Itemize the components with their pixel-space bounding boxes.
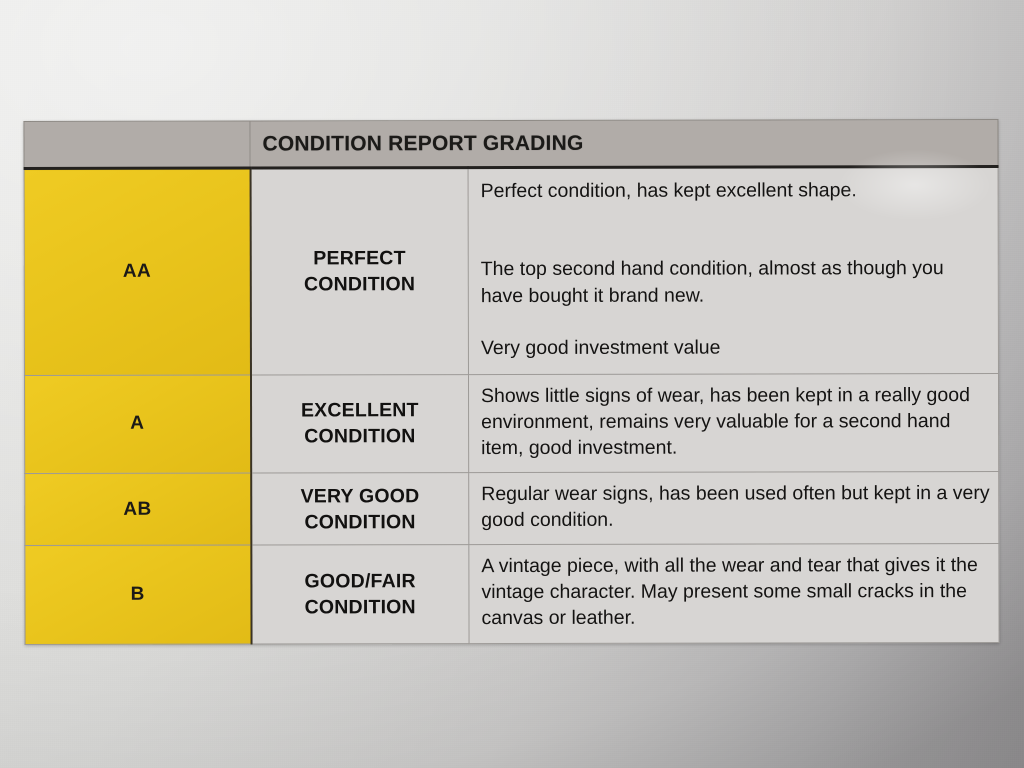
grade-cell-aa: AA — [24, 168, 250, 375]
condition-cell-ab: VERY GOOD CONDITION — [251, 473, 469, 546]
table-body: AA PERFECT CONDITION Perfect condition, … — [24, 166, 999, 644]
condition-report-grading-table: CONDITION REPORT GRADING AA PERFECT COND… — [23, 119, 999, 645]
condition-label: PERFECT CONDITION — [251, 245, 468, 298]
description-cell-ab: Regular wear signs, has been used often … — [469, 472, 999, 545]
header-spacer-cell — [24, 121, 250, 168]
condition-cell-b: GOOD/FAIR CONDITION — [251, 545, 469, 644]
header-title-cell: CONDITION REPORT GRADING — [250, 119, 998, 168]
grade-cell-b: B — [25, 545, 251, 644]
description-text: Shows little signs of wear, has been kep… — [481, 383, 990, 462]
description-cell-aa: Perfect condition, has kept excellent sh… — [468, 166, 998, 374]
description-text: Perfect condition, has kept excellent sh… — [481, 177, 990, 361]
description-text: A vintage piece, with all the wear and t… — [481, 553, 990, 632]
condition-label: GOOD/FAIR CONDITION — [252, 568, 469, 621]
grade-cell-a: A — [24, 375, 250, 474]
grade-label: AB — [25, 498, 250, 520]
condition-cell-a: EXCELLENT CONDITION — [250, 374, 468, 473]
table-row: AB VERY GOOD CONDITION Regular wear sign… — [25, 472, 999, 546]
condition-label: EXCELLENT CONDITION — [252, 397, 469, 450]
description-text: Regular wear signs, has been used often … — [481, 481, 990, 534]
photographed-document: CONDITION REPORT GRADING AA PERFECT COND… — [0, 0, 1024, 768]
description-cell-b: A vintage piece, with all the wear and t… — [469, 544, 999, 644]
table-header: CONDITION REPORT GRADING — [24, 119, 998, 168]
grade-label: AA — [25, 261, 250, 283]
table-row: AA PERFECT CONDITION Perfect condition, … — [24, 166, 998, 375]
grade-label: B — [25, 584, 250, 606]
table-row: B GOOD/FAIR CONDITION A vintage piece, w… — [25, 544, 999, 645]
condition-label: VERY GOOD CONDITION — [252, 483, 469, 536]
header-row: CONDITION REPORT GRADING — [24, 119, 998, 168]
grade-label: A — [25, 413, 250, 435]
page-title: CONDITION REPORT GRADING — [250, 130, 997, 156]
grade-cell-ab: AB — [25, 473, 251, 546]
table-row: A EXCELLENT CONDITION Shows little signs… — [24, 373, 998, 474]
description-cell-a: Shows little signs of wear, has been kep… — [468, 373, 998, 473]
condition-cell-aa: PERFECT CONDITION — [250, 168, 468, 375]
